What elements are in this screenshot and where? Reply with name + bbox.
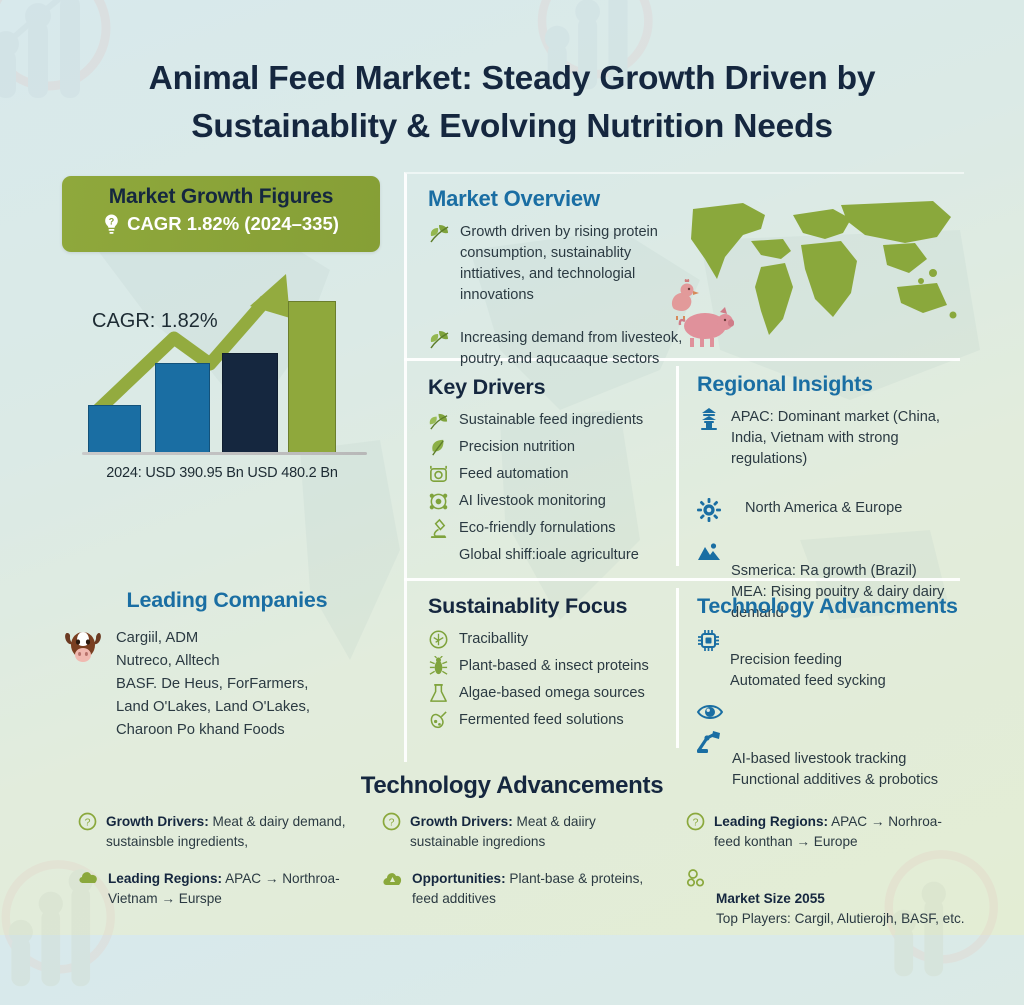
svg-text:?: ? [693,816,699,828]
market-growth-figures-badge: Market Growth Figures ? CAGR 1.82% (2024… [62,176,380,252]
lightbulb-question-icon: ? [103,214,120,235]
sustainability-item: Traciballity [428,629,673,650]
bottom-item-text: Leading Regions: APAC → Norhroa-feed kon… [714,812,968,851]
market-growth-chart: CAGR: 1.82% 2024: USD 390.95 Bn USD 480.… [62,268,382,483]
technology-text: Precision feeding Automated feed sycking [730,629,886,692]
leading-companies-heading: Leading Companies [62,588,392,613]
svg-text:?: ? [85,816,91,828]
leaf-sprout-icon [428,410,449,431]
bottom-item: ? Growth Drivers: Meat & daiiry sustaina… [382,812,664,851]
microscope-icon [428,518,449,539]
chart-baseline [82,452,367,455]
bottom-item-label: Leading Regions: [714,814,828,829]
bottom-columns: ? Growth Drivers: Meat & dairy demand, s… [78,812,968,947]
key-drivers-text: AI livestook monitoring [459,491,606,512]
bar-2026 [155,363,210,453]
people-icon [686,869,707,887]
bottom-item-label: Growth Drivers: [410,814,513,829]
market-overview-heading: Market Overview [428,186,688,212]
gear-icon [697,498,721,522]
leaf-icon [428,222,450,244]
key-drivers-text: Sustainable feed ingredients [459,410,643,431]
growth-badge-subtitle: CAGR 1.82% (2024–335) [127,213,339,235]
sustainability-item: Algae-based omega sources [428,683,673,704]
regional-insights-text: North America & Europe [731,498,902,519]
key-drivers-heading: Key Drivers [428,375,668,400]
technology-item: Precision feeding Automated feed sycking [697,629,965,692]
bottom-column: ? Growth Drivers: Meat & dairy demand, s… [78,812,360,947]
market-overview-section: Market Overview Growth driven by rising … [428,186,688,376]
growth-badge-title: Market Growth Figures [62,185,380,209]
bottom-item-text: Opportunities: Plant-base & proteins, fe… [412,869,664,908]
sustainability-focus-heading: Sustainablity Focus [428,594,673,619]
robot-arm-icon [697,728,722,753]
sustainability-text: Algae-based omega sources [459,683,645,704]
company-line: Charoon Po khand Foods [116,719,310,742]
bottom-item-label: Market Size 2055 [716,891,825,906]
bar-2024 [88,405,141,453]
market-overview-item: Increasing demand from livesteok, poutry… [428,328,688,370]
bottom-item-text: Growth Drivers: Meat & dairy demand, sus… [106,812,360,851]
bar-2035 [288,301,336,453]
market-overview-text: Growth driven by rising protein consumpt… [460,222,688,306]
bottom-item-label: Growth Drivers: [106,814,209,829]
key-drivers-text: Eco-friendly fornulations [459,518,616,539]
technology-advancements-section: Technology Advancments Precision feeding… [697,594,965,797]
sustainability-text: Plant-based & insect proteins [459,656,649,677]
ferment-icon [428,710,449,731]
bar-2030 [222,353,278,453]
regional-insights-heading: Regional Insights [697,372,959,397]
svg-text:?: ? [109,216,115,226]
svg-text:?: ? [389,816,395,828]
column-divider-lower [676,588,679,748]
bottom-item-value: Top Players: Cargil, Alutierojh, BASF, e… [716,911,965,926]
chart-bars [62,293,382,453]
eye-icon [697,702,723,722]
leading-companies-row: Cargiil, ADM Nutreco, Alltech BASF. De H… [62,627,392,742]
regional-insights-item: North America & Europe [697,498,959,522]
key-drivers-item: AI livestook monitoring [428,491,668,512]
regional-insights-text: APAC: Dominant market (China, India, Vie… [731,407,959,470]
sustainability-focus-section: Sustainablity Focus Traciballity Plant-b… [428,594,673,737]
sustainability-text: Fermented feed solutions [459,710,624,731]
market-overview-text: Increasing demand from livesteok, poutry… [460,328,688,370]
key-drivers-item: Precision nutrition [428,437,668,458]
question-circle-icon: ? [382,812,401,831]
key-drivers-text: Feed automation [459,464,569,485]
company-line: Land O'Lakes, Land O'Lakes, [116,696,310,719]
bottom-item: ? Leading Regions: APAC → Norhroa-feed k… [686,812,968,851]
regional-insights-section: Regional Insights APAC: Dominant market … [697,372,959,630]
leading-companies-section: Leading Companies Cargiil, ADM Nutreco, … [62,588,392,742]
bottom-item: ? Growth Drivers: Meat & dairy demand, s… [78,812,360,851]
key-drivers-text: Precision nutrition [459,437,575,458]
bottom-column: ? Leading Regions: APAC → Norhroa-feed k… [686,812,968,947]
pagoda-icon [697,407,721,431]
market-overview-item: Growth driven by rising protein consumpt… [428,222,688,306]
sustainability-item: Plant-based & insect proteins [428,656,673,677]
cow-icon [62,627,104,667]
chip-icon [697,629,720,652]
column-divider-upper [676,366,679,566]
technology-item [697,702,965,722]
question-circle-icon: ? [78,812,97,831]
gear-camera-icon [428,464,449,485]
bottom-column: ? Growth Drivers: Meat & daiiry sustaina… [382,812,664,947]
bottom-item: Opportunities: Plant-base & proteins, fe… [382,869,664,908]
bottom-section-heading: Technology Advancements [0,772,1024,800]
question-circle-icon: ? [686,812,705,831]
bottom-item: Leading Regions: APAC → Northroa-Vietnam… [78,869,360,908]
regional-insights-item: APAC: Dominant market (China, India, Vie… [697,407,959,470]
bottom-item-label: Leading Regions: [108,871,222,886]
globe-tree-icon [428,629,449,650]
key-drivers-item: Eco-friendly fornulations [428,518,668,539]
growth-badge-subtitle-row: ? CAGR 1.82% (2024–335) [62,213,380,235]
technology-text-value: Precision feeding Automated feed sycking [730,652,886,689]
leaf-icon [428,328,450,350]
sustainability-text: Traciballity [459,629,528,650]
company-line: BASF. De Heus, ForFarmers, [116,673,310,696]
leading-companies-list: Cargiil, ADM Nutreco, Alltech BASF. De H… [116,627,310,742]
leaf-icon [428,437,449,458]
insect-icon [428,656,449,677]
cloud-icon [78,869,99,885]
key-drivers-item: Global shiff:ioale agriculture [428,545,668,566]
chart-caption: 2024: USD 390.95 Bn USD 480.2 Bn [62,465,382,481]
company-line: Nutreco, Alltech [116,650,310,673]
bottom-item: Market Size 2055 Top Players: Cargil, Al… [686,869,968,928]
sustainability-item: Fermented feed solutions [428,710,673,731]
ai-network-icon [428,491,449,512]
mountain-icon [697,540,721,564]
company-line: Cargiil, ADM [116,627,310,650]
key-drivers-section: Key Drivers Sustainable feed ingredients… [428,375,668,572]
key-drivers-text: Global shiff:ioale agriculture [459,545,639,566]
bottom-item-text: Leading Regions: APAC → Northroa-Vietnam… [108,869,360,908]
technology-advancements-heading: Technology Advancments [697,594,965,619]
key-drivers-item: Feed automation [428,464,668,485]
bottom-item-text: Market Size 2055 Top Players: Cargil, Al… [716,869,965,928]
flask-icon [428,683,449,704]
recycle-icon [382,869,403,887]
bottom-item-label: Opportunities: [412,871,506,886]
page-title: Animal Feed Market: Steady Growth Driven… [60,55,964,150]
key-drivers-item: Sustainable feed ingredients [428,410,668,431]
bottom-item-text: Growth Drivers: Meat & daiiry sustainabl… [410,812,664,851]
